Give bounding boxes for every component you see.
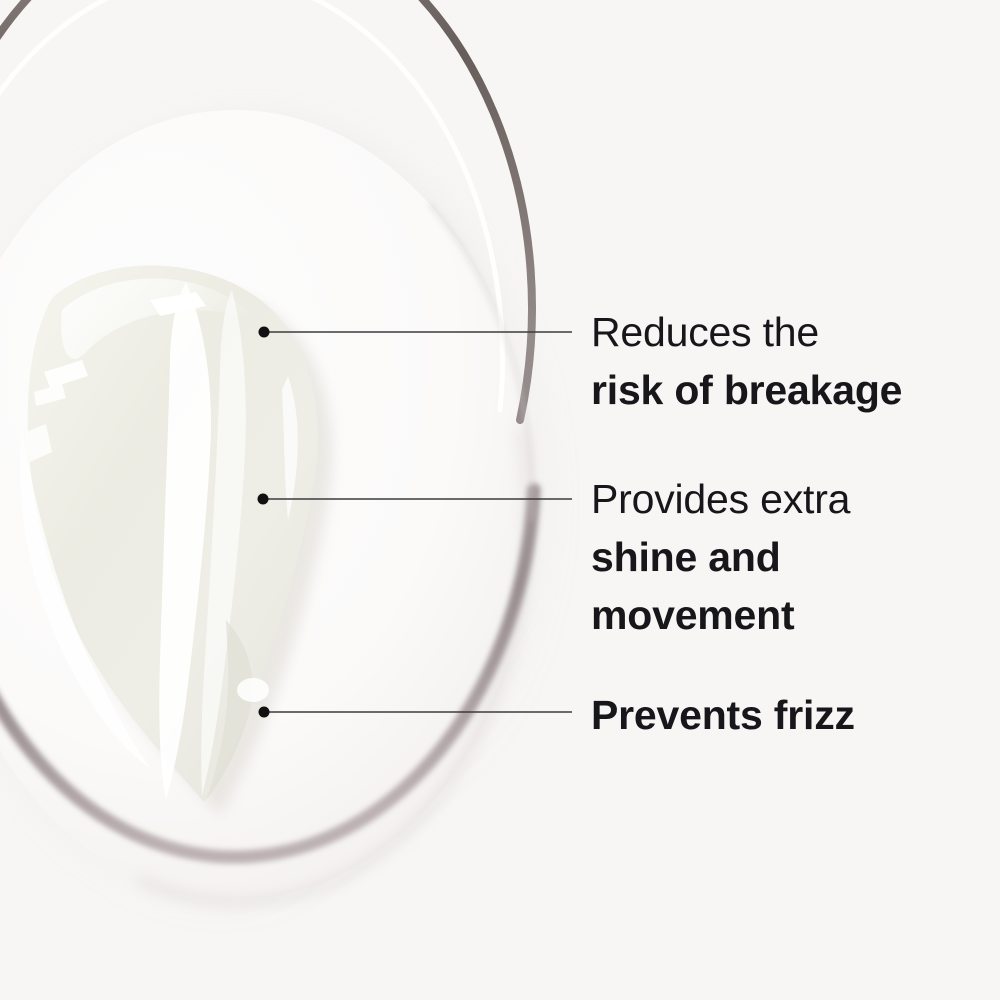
callout-text-3: Prevents frizz xyxy=(591,686,855,744)
callout-text-2: Provides extra shine and movement xyxy=(591,470,850,644)
gel-bubble xyxy=(237,678,269,702)
callout-dot-2 xyxy=(258,494,269,505)
callout-text-1: Reduces the risk of breakage xyxy=(591,303,902,419)
callout-2-line-3: movement xyxy=(591,586,850,644)
callout-1-line-2: risk of breakage xyxy=(591,361,902,419)
callout-dot-1 xyxy=(259,327,270,338)
callout-dot-3 xyxy=(259,707,270,718)
product-feature-graphic: Reduces the risk of breakage Provides ex… xyxy=(0,0,1000,1000)
callout-1-line-1: Reduces the xyxy=(591,303,902,361)
callout-2-line-2: shine and xyxy=(591,528,850,586)
callout-2-line-1: Provides extra xyxy=(591,470,850,528)
callout-3-line-1: Prevents frizz xyxy=(591,686,855,744)
